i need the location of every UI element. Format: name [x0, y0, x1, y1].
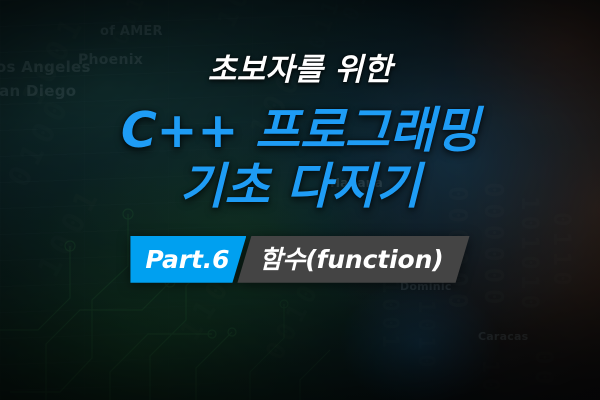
- banner-content: 초보자를 위한 C++ 프로그래밍 기초 다지기 Part.6 함수(funct…: [0, 0, 600, 400]
- banner-headline: C++ 프로그래밍 기초 다지기: [121, 103, 479, 215]
- course-thumbnail-banner: Los AngelesSan DiegoPhoenixof AMERHabana…: [0, 0, 600, 400]
- headline-line-1: C++ 프로그래밍: [121, 103, 479, 159]
- part-topic-label: 함수(function): [237, 236, 469, 283]
- part-badge: Part.6 함수(function): [130, 236, 469, 283]
- part-number-label: Part.6: [130, 236, 246, 283]
- banner-eyebrow-text: 초보자를 위한: [208, 55, 393, 86]
- headline-line-2: 기초 다지기: [121, 159, 479, 215]
